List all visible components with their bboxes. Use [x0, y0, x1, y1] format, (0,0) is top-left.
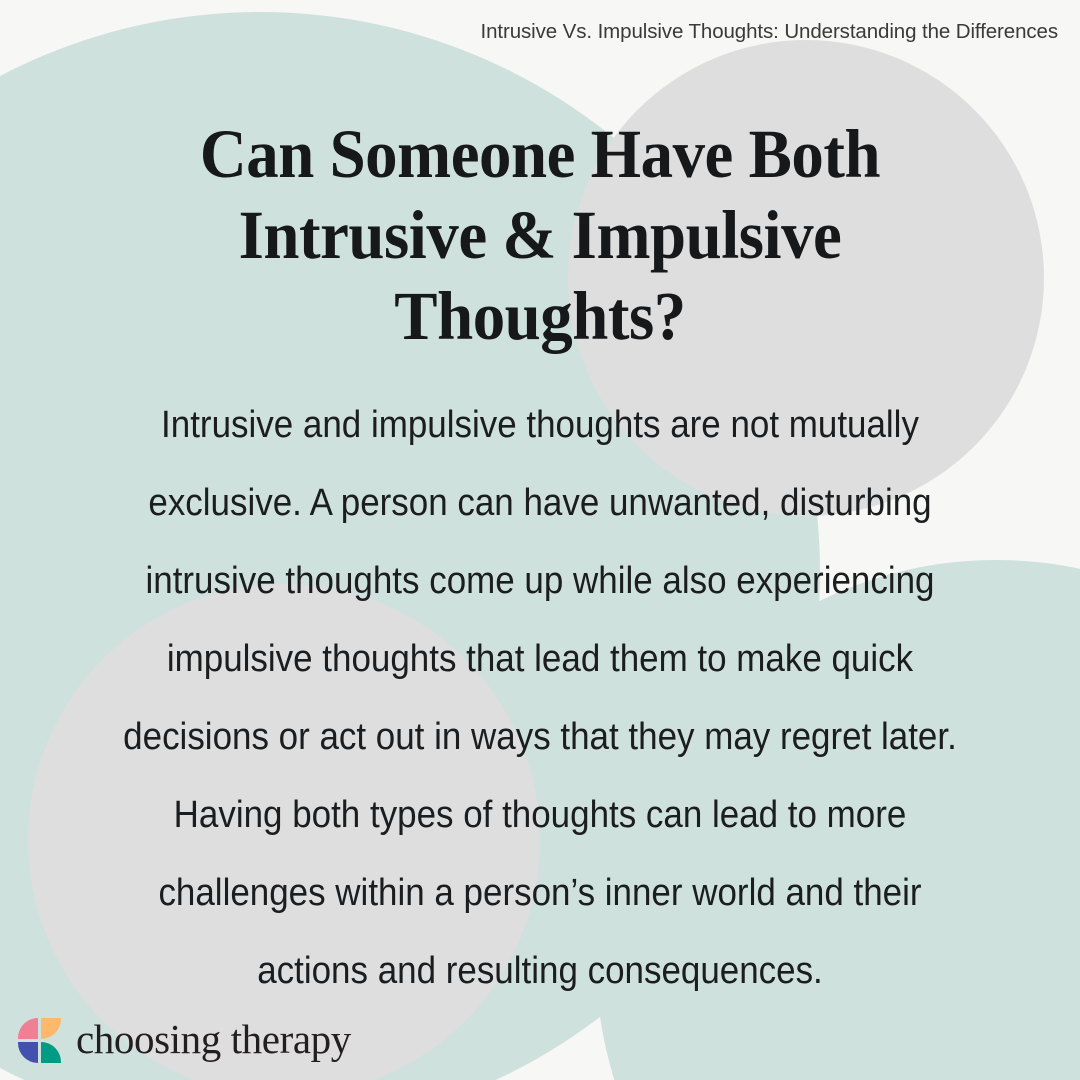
headline-line-3: Thoughts? — [145, 276, 935, 357]
choosing-therapy-petal-mark-icon — [18, 1018, 62, 1064]
card-content: Intrusive Vs. Impulsive Thoughts: Unders… — [0, 0, 1080, 1080]
headline-line-1: Can Someone Have Both — [145, 114, 935, 195]
logo-wordmark: choosing therapy — [76, 1019, 351, 1063]
petal-blue-icon — [18, 1042, 38, 1063]
body-line-8: actions and resulting consequences. — [85, 932, 996, 1010]
body-line-5: decisions or act out in ways that they m… — [85, 698, 996, 776]
petal-teal-icon — [41, 1042, 61, 1063]
infographic-card: Intrusive Vs. Impulsive Thoughts: Unders… — [0, 0, 1080, 1080]
body-line-3: intrusive thoughts come up while also ex… — [85, 542, 996, 620]
page-title: Can Someone Have Both Intrusive & Impuls… — [120, 114, 960, 357]
body-line-1: Intrusive and impulsive thoughts are not… — [85, 386, 996, 464]
body-line-7: challenges within a person’s inner world… — [85, 854, 996, 932]
body-line-2: exclusive. A person can have unwanted, d… — [85, 464, 996, 542]
petal-orange-icon — [41, 1018, 61, 1039]
choosing-therapy-logo[interactable]: choosing therapy — [18, 1018, 351, 1064]
body-line-6: Having both types of thoughts can lead t… — [85, 776, 996, 854]
article-kicker: Intrusive Vs. Impulsive Thoughts: Unders… — [480, 20, 1058, 44]
headline-line-2: Intrusive & Impulsive — [145, 195, 935, 276]
body-line-4: impulsive thoughts that lead them to mak… — [85, 620, 996, 698]
petal-pink-icon — [18, 1018, 38, 1039]
body-paragraph: Intrusive and impulsive thoughts are not… — [45, 386, 1035, 1010]
